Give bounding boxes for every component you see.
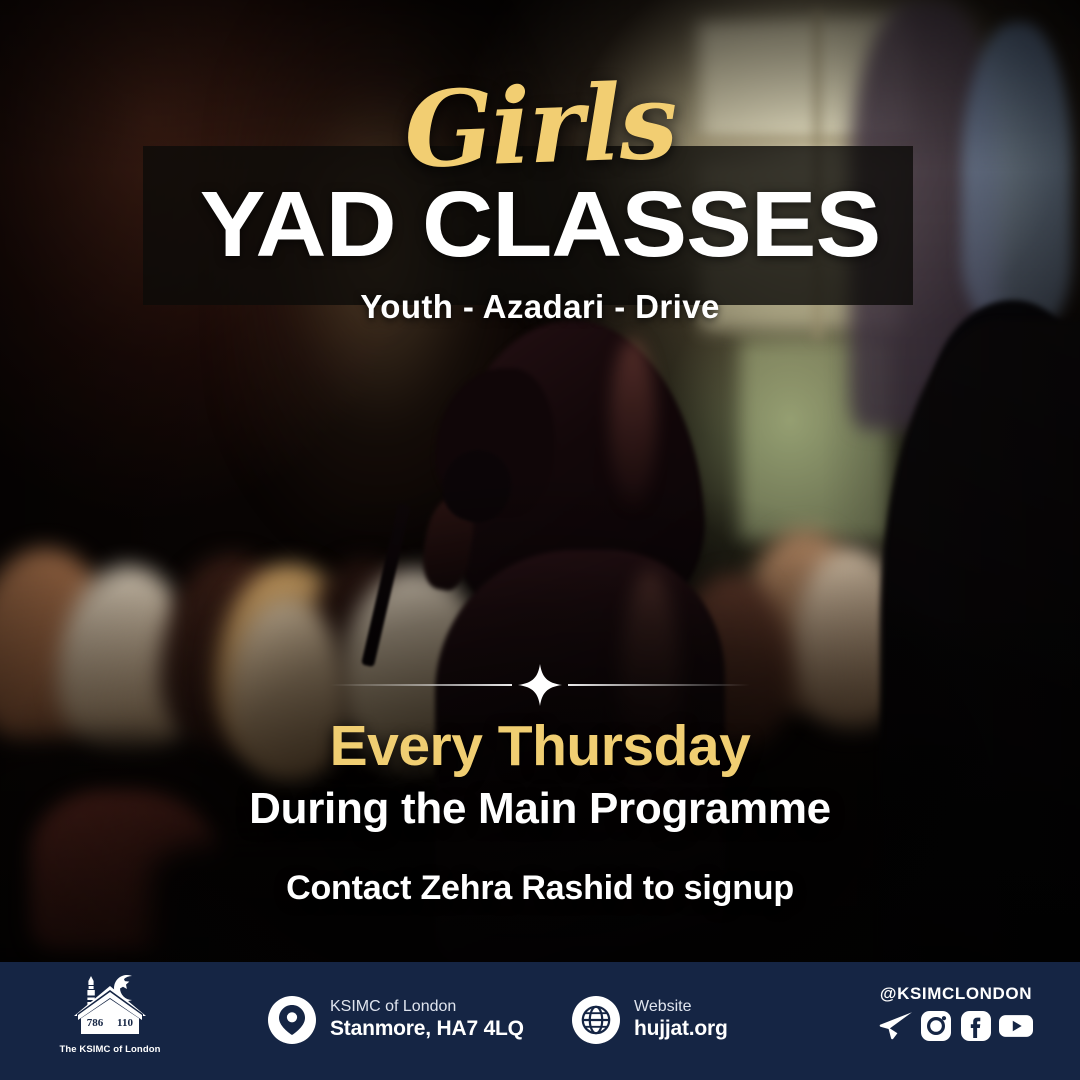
event-timing: During the Main Programme — [0, 787, 1080, 831]
website-text: Website hujjat.org — [634, 998, 728, 1042]
footer-website[interactable]: Website hujjat.org — [572, 996, 728, 1044]
poster-root: Girls YAD CLASSES Youth - Azadari - Driv… — [0, 0, 1080, 1080]
section-divider — [330, 664, 750, 706]
speaker-rim-light — [610, 338, 656, 508]
globe-icon — [572, 996, 620, 1044]
youtube-icon[interactable] — [999, 1009, 1033, 1043]
logo-caption: The KSIMC of London — [59, 1044, 160, 1055]
instagram-icon[interactable] — [919, 1009, 953, 1043]
event-day: Every Thursday — [0, 718, 1080, 775]
speaker-silhouette — [405, 320, 735, 960]
footer-location: KSIMC of London Stanmore, HA7 4LQ — [268, 996, 524, 1044]
website-value: hujjat.org — [634, 1017, 728, 1042]
social-handle: @KSIMCLONDON — [880, 984, 1032, 1004]
divider-line-right — [568, 684, 750, 686]
social-block: @KSIMCLONDON — [856, 984, 1056, 1043]
social-icon-row — [879, 1009, 1033, 1043]
page-title: YAD CLASSES — [0, 178, 1080, 271]
website-label: Website — [634, 998, 728, 1017]
contact-line: Contact Zehra Rashid to signup — [0, 871, 1080, 905]
svg-text:786: 786 — [87, 1017, 104, 1029]
location-text: KSIMC of London Stanmore, HA7 4LQ — [330, 998, 524, 1042]
svg-text:110: 110 — [117, 1017, 133, 1029]
location-value: Stanmore, HA7 4LQ — [330, 1017, 524, 1042]
mosque-logo-icon: 786 110 — [68, 970, 152, 1042]
subtitle: Youth - Azadari - Drive — [0, 288, 1080, 326]
location-label: KSIMC of London — [330, 998, 524, 1017]
telegram-icon[interactable] — [879, 1009, 913, 1043]
location-pin-icon — [268, 996, 316, 1044]
footer-bar: 786 110 The KSIMC of London KSIMC of Lon… — [0, 962, 1080, 1080]
organisation-logo: 786 110 The KSIMC of London — [40, 970, 180, 1074]
four-point-sparkle-icon — [518, 664, 562, 706]
facebook-icon[interactable] — [959, 1009, 993, 1043]
divider-line-left — [330, 684, 512, 686]
